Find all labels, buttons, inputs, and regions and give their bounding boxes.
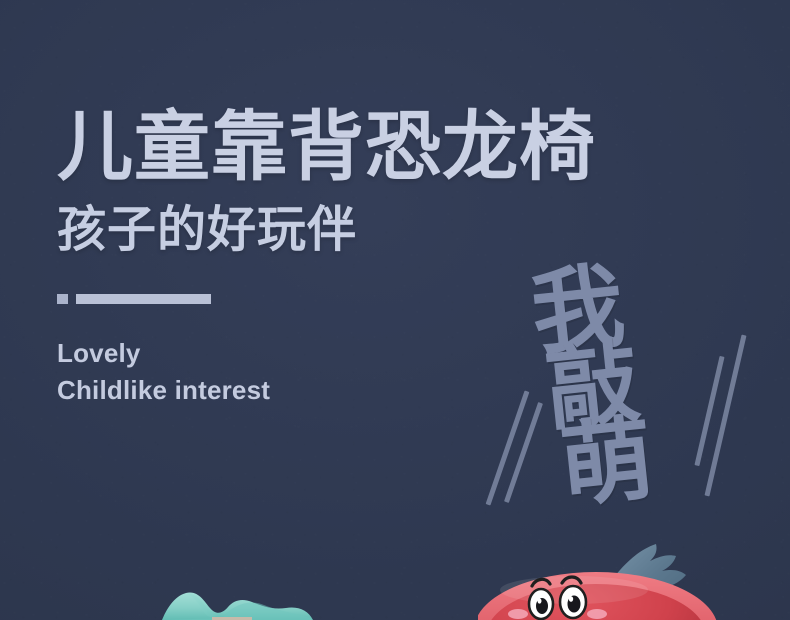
slogan-char-3: 萌: [557, 420, 657, 506]
english-tagline: Lovely Childlike interest: [57, 335, 596, 409]
page-title: 儿童靠背恐龙椅: [57, 108, 596, 188]
page-subtitle: 孩子的好玩伴: [57, 204, 596, 258]
english-tagline-line1: Lovely: [57, 335, 596, 372]
divider-bar-icon: [76, 294, 211, 304]
dino-eye-glint-right: [569, 596, 573, 602]
teal-dinosaur-chair: [160, 588, 315, 620]
red-dinosaur-chair: [478, 542, 790, 620]
dino-cheek-left: [508, 609, 528, 619]
poster-canvas: 儿童靠背恐龙椅 孩子的好玩伴 Lovely Childlike interest…: [0, 0, 790, 620]
dino-eye-glint-left: [538, 598, 542, 603]
divider: [57, 294, 596, 304]
headline-block: 儿童靠背恐龙椅 孩子的好玩伴 Lovely Childlike interest: [57, 108, 596, 409]
english-tagline-line2: Childlike interest: [57, 372, 596, 409]
dino-cheek-right: [587, 609, 607, 619]
divider-dot-icon: [57, 294, 68, 304]
